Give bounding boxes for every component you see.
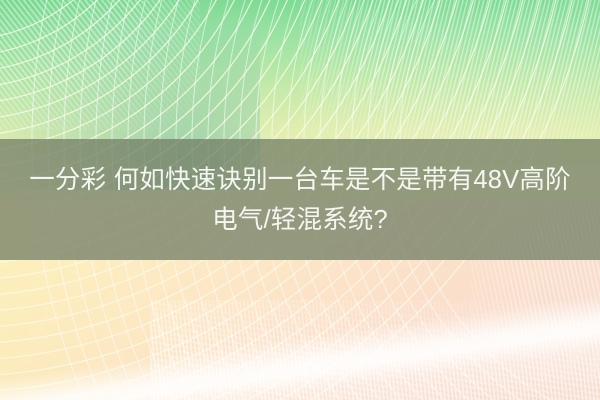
caption-band: 一分彩 何如快速诀别一台车是不是带有48V高阶 电气/轻混系统?	[0, 139, 600, 260]
caption-line-1: 一分彩 何如快速诀别一台车是不是带有48V高阶	[29, 160, 571, 200]
banner-image: 一分彩 何如快速诀别一台车是不是带有48V高阶 电气/轻混系统?	[0, 0, 600, 400]
caption-line-2: 电气/轻混系统?	[212, 200, 388, 240]
